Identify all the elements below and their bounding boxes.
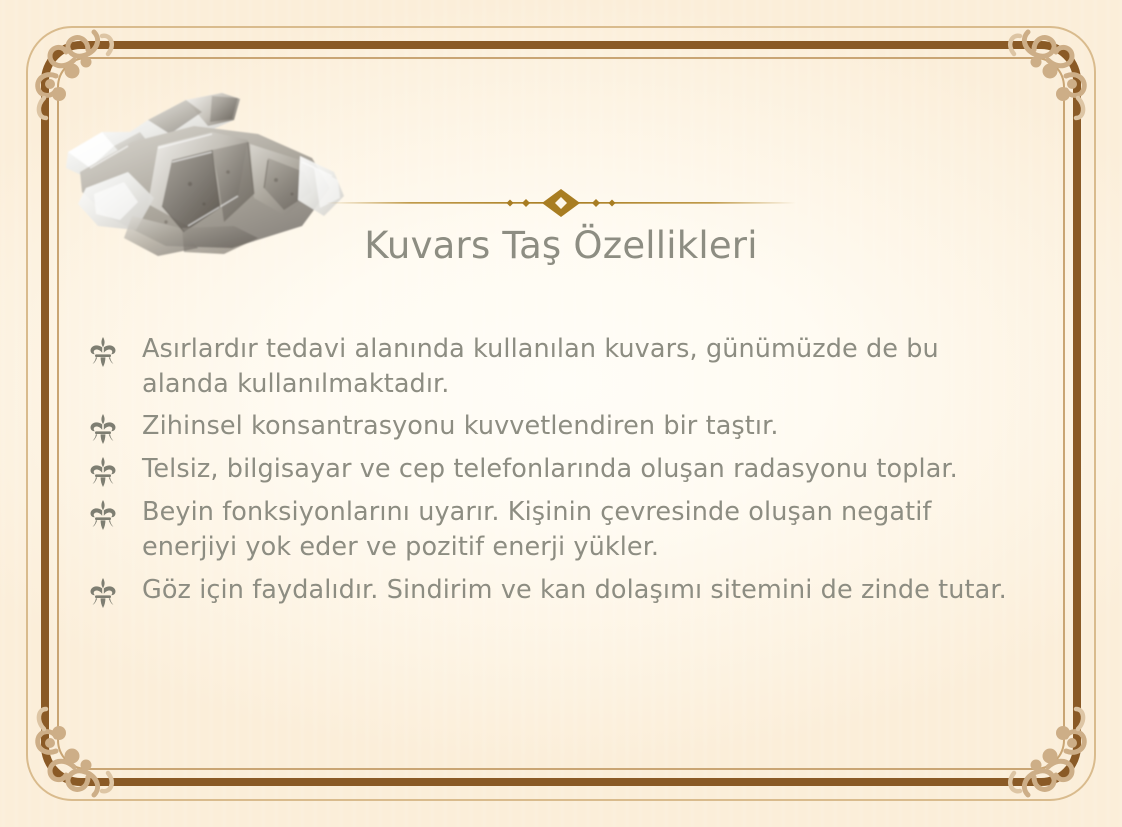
card-header: Kuvars Taş Özellikleri: [0, 186, 1122, 267]
fleur-de-lis-icon: [86, 578, 120, 608]
list-item-text: Asırlardır tedavi alanında kullanılan ku…: [142, 332, 1026, 401]
list-item: Beyin fonksiyonlarını uyarır. Kişinin çe…: [86, 495, 1026, 564]
scroll-flourish-ornament-icon: [12, 695, 144, 813]
info-card: Kuvars Taş Özellikleri Asırlardır: [0, 0, 1122, 827]
fleur-de-lis-icon: [86, 414, 120, 444]
fleur-de-lis-icon: [86, 457, 120, 487]
diamond-divider-ornament: [326, 186, 796, 220]
page-title: Kuvars Taş Özellikleri: [0, 224, 1122, 267]
list-item: Asırlardır tedavi alanında kullanılan ku…: [86, 332, 1026, 401]
fleur-de-lis-icon: [86, 500, 120, 530]
scroll-flourish-ornament-icon: [978, 14, 1110, 132]
fleur-de-lis-icon: [86, 337, 120, 367]
list-item-text: Beyin fonksiyonlarını uyarır. Kişinin çe…: [142, 495, 1026, 564]
list-item-text: Zihinsel konsantrasyonu kuvvetlendiren b…: [142, 409, 1026, 444]
benefits-list: Asırlardır tedavi alanında kullanılan ku…: [86, 332, 1026, 616]
list-item: Göz için faydalıdır. Sindirim ve kan dol…: [86, 573, 1026, 608]
list-item-text: Telsiz, bilgisayar ve cep telefonlarında…: [142, 452, 1026, 487]
scroll-flourish-ornament-icon: [978, 695, 1110, 813]
list-item: Zihinsel konsantrasyonu kuvvetlendiren b…: [86, 409, 1026, 444]
list-item: Telsiz, bilgisayar ve cep telefonlarında…: [86, 452, 1026, 487]
list-item-text: Göz için faydalıdır. Sindirim ve kan dol…: [142, 573, 1026, 608]
